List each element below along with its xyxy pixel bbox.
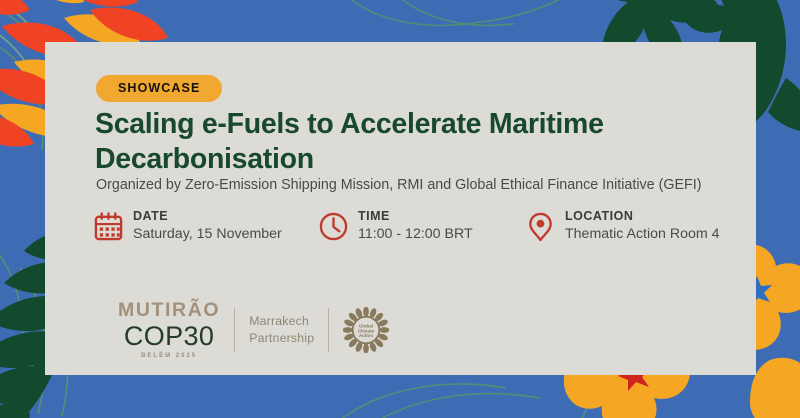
detail-date: DATE Saturday, 15 November (93, 208, 282, 244)
marrakech-line-1: Marrakech (249, 313, 314, 330)
gca-line-3: Action (359, 333, 373, 338)
logo-divider (328, 308, 329, 352)
detail-location: LOCATION Thematic Action Room 4 (525, 208, 720, 244)
detail-label: DATE (133, 208, 282, 225)
clock-icon (318, 210, 349, 243)
detail-value: Thematic Action Room 4 (565, 225, 720, 244)
calendar-icon (93, 210, 124, 243)
detail-label: TIME (358, 208, 473, 225)
detail-label: LOCATION (565, 208, 720, 225)
logo-divider (234, 308, 235, 352)
event-details: DATE Saturday, 15 November TIME 11:00 - … (93, 208, 743, 264)
logo-row: MUTIRÃO COP30 BELÉM 2025 Marrakech Partn… (118, 301, 389, 359)
cop30-place-text: BELÉM 2025 (141, 353, 197, 359)
event-poster: SHOWCASE Scaling e-Fuels to Accelerate M… (0, 0, 800, 418)
detail-time: TIME 11:00 - 12:00 BRT (318, 208, 473, 244)
organizer-text: Organized by Zero-Emission Shipping Miss… (96, 176, 756, 195)
marrakech-line-2: Partnership (249, 330, 314, 347)
marrakech-partnership-logo: Marrakech Partnership (249, 313, 314, 346)
map-pin-icon (525, 210, 556, 243)
showcase-badge: SHOWCASE (96, 75, 222, 102)
cop30-mutirao-text: MUTIRÃO (118, 301, 220, 321)
event-card: SHOWCASE Scaling e-Fuels to Accelerate M… (45, 42, 756, 375)
detail-value: Saturday, 15 November (133, 225, 282, 244)
cop30-logo: MUTIRÃO COP30 BELÉM 2025 (118, 301, 220, 359)
page-title: Scaling e-Fuels to Accelerate Maritime D… (95, 107, 715, 177)
cop30-name-text: COP30 (124, 322, 215, 350)
detail-value: 11:00 - 12:00 BRT (358, 225, 473, 244)
global-climate-action-logo: Global Climate Action (343, 307, 389, 353)
